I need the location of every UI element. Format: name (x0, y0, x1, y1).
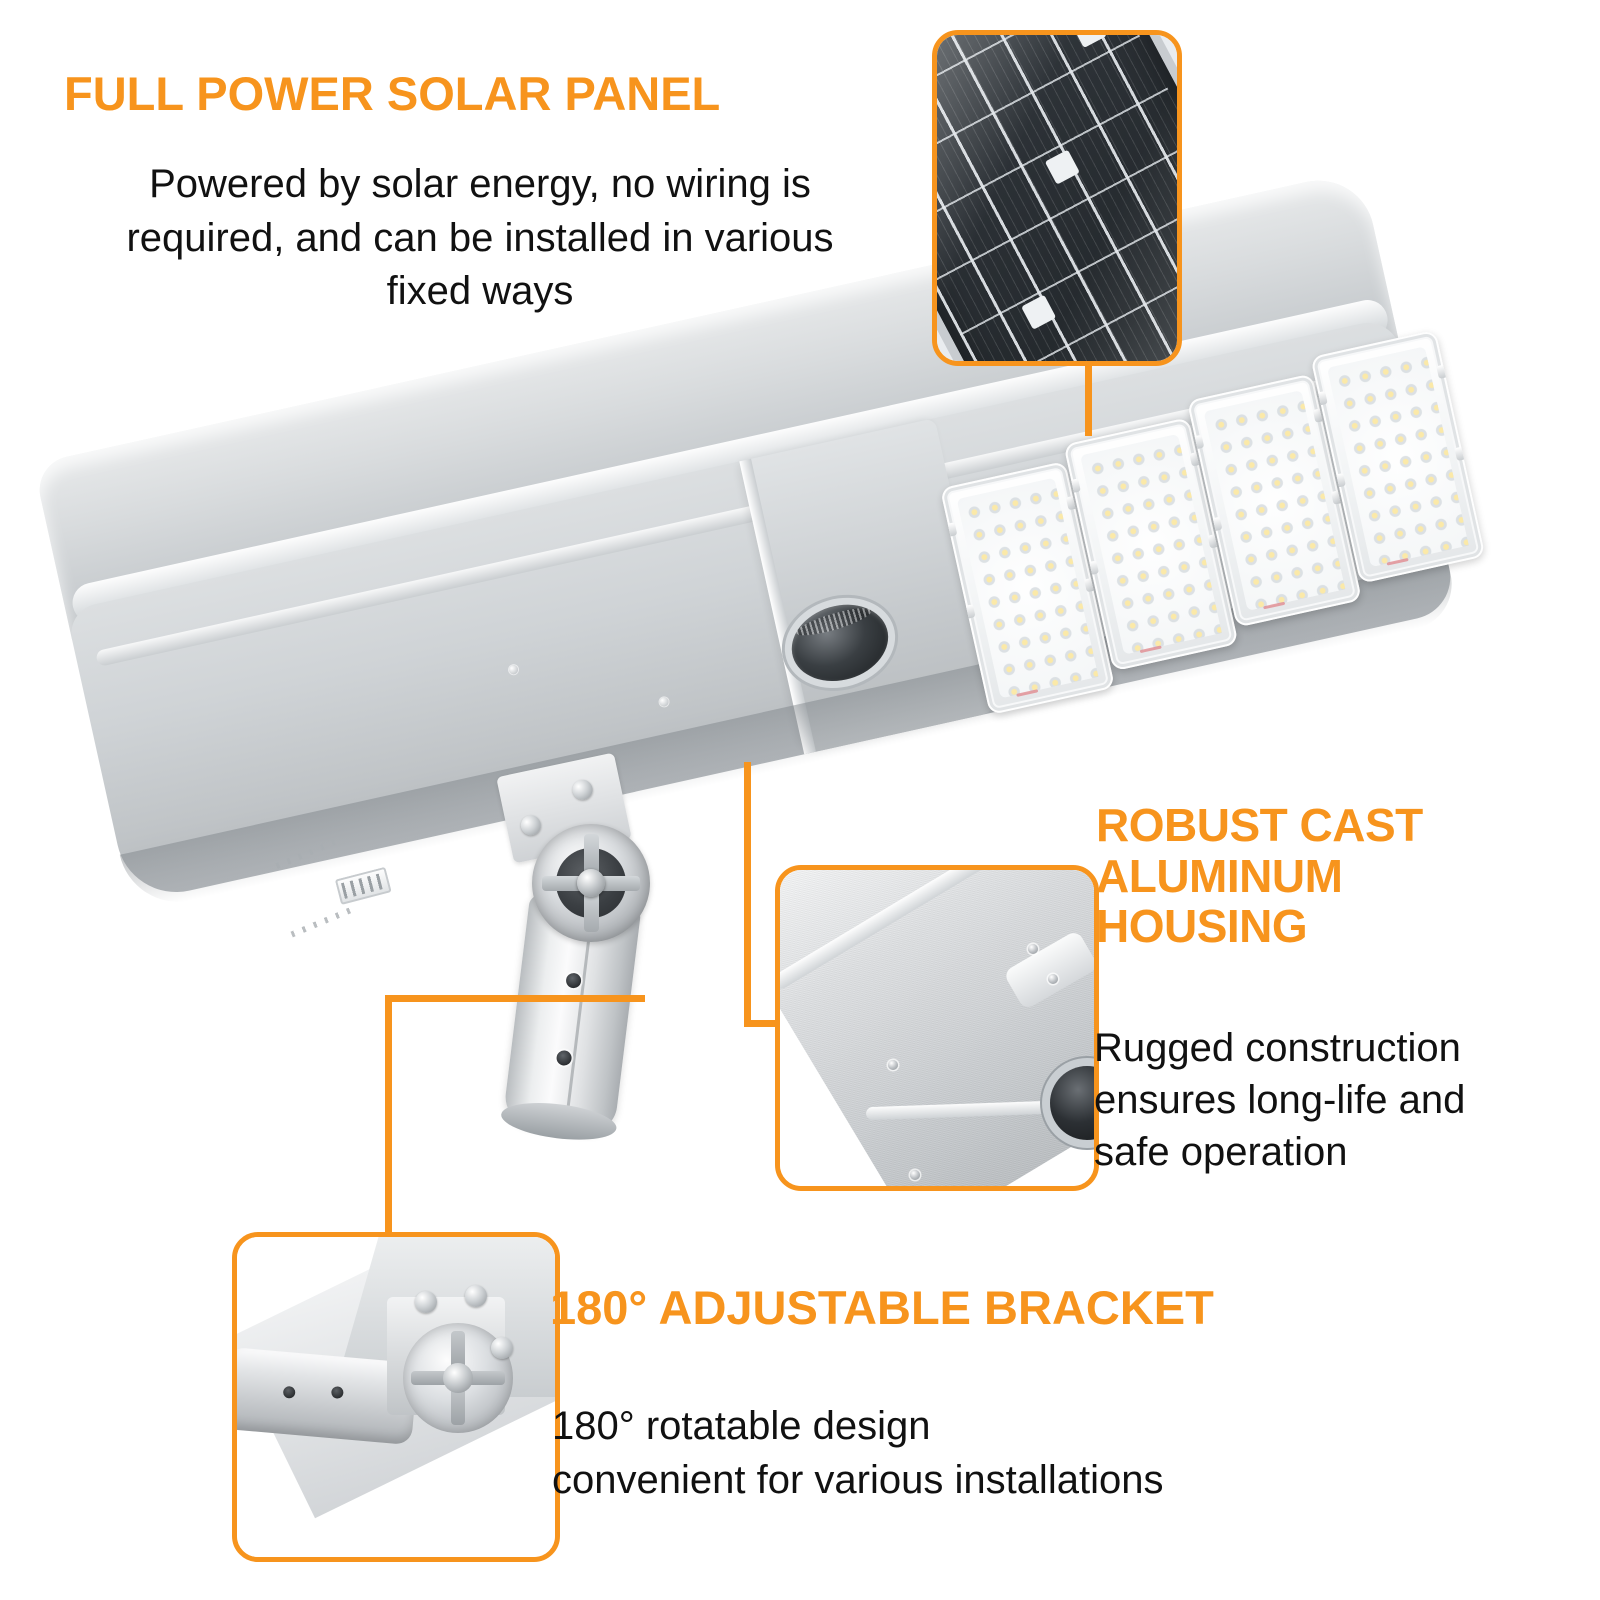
bracket-screw-hole (331, 1386, 344, 1399)
housing-texture (780, 870, 1094, 1186)
bracket-closeup-image (237, 1237, 555, 1557)
housing-screw (888, 1060, 898, 1070)
inset-housing (775, 865, 1099, 1191)
inset-bracket (232, 1232, 560, 1562)
bracket-seam (566, 915, 593, 1114)
body-housing: Rugged construction ensures long-life an… (1094, 1022, 1564, 1178)
fixture-vent-dots (290, 905, 357, 937)
bracket-bolt (571, 778, 595, 802)
solar-panel-sheen (937, 35, 1177, 361)
heading-solar-panel: FULL POWER SOLAR PANEL (64, 70, 720, 119)
leader-line-solar (1085, 356, 1092, 436)
housing-screw (910, 1170, 920, 1180)
infographic-canvas: FULL POWER SOLAR PANEL Powered by solar … (0, 0, 1600, 1600)
bracket-bolt (491, 1337, 513, 1359)
bracket-screw-hole (565, 972, 582, 989)
led-clip (1436, 364, 1448, 379)
leader-line-bracket (385, 995, 392, 1240)
solar-panel-image (937, 35, 1177, 361)
bracket-pivot-bolt (443, 1363, 473, 1393)
heading-bracket: 180° ADJUSTABLE BRACKET (550, 1284, 1214, 1333)
fixture-label-plate (335, 867, 392, 905)
bracket-rotation-hub (532, 824, 650, 942)
bracket-tube-end (499, 1097, 618, 1145)
bracket-pivot-bolt (577, 869, 605, 897)
led-clip (1454, 446, 1466, 461)
bracket-bolt (415, 1291, 437, 1313)
bracket-bolt (465, 1285, 487, 1307)
leader-line-housing (744, 762, 751, 1027)
body-bracket: 180° rotatable design convenient for var… (552, 1400, 1352, 1507)
bracket-screw-hole (283, 1386, 296, 1399)
heading-housing: ROBUST CAST ALUMINUM HOUSING (1096, 800, 1423, 952)
housing-screw (1028, 944, 1038, 954)
housing-surface (780, 870, 1094, 1186)
inset-solar-panel (932, 30, 1182, 366)
bracket-screw-hole (556, 1050, 573, 1067)
housing-screw (1048, 974, 1058, 984)
mounting-bracket-arm (490, 750, 720, 1150)
housing-closeup-image (780, 870, 1094, 1186)
leader-line-bracket (385, 995, 645, 1002)
bracket-bolt (519, 813, 543, 837)
body-solar-panel: Powered by solar energy, no wiring is re… (36, 158, 924, 319)
